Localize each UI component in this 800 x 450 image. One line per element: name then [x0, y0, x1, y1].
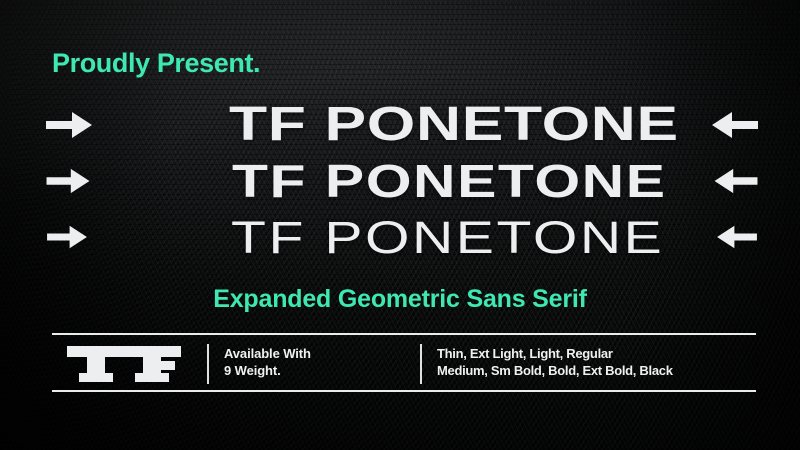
arrow-right-icon	[46, 110, 92, 140]
footer-weights-column: Thin, Ext Light, Light, Regular Medium, …	[437, 345, 673, 379]
footer-availability-column: Available With 9 Weight.	[224, 345, 311, 379]
font-specimen-poster: Proudly Present. TF PONETONE TF PONETONE	[0, 0, 800, 450]
headline-word: TF PONETONE	[231, 215, 664, 260]
tf-monogram-logo	[65, 344, 183, 384]
footer-divider-2	[420, 344, 422, 384]
headline-row-black: TF PONETONE	[46, 100, 758, 150]
arrow-right-icon	[46, 167, 90, 195]
arrow-right-icon	[46, 224, 88, 250]
footer-availability-line2: 9 Weight.	[224, 362, 311, 379]
divider-rule-bottom	[52, 390, 756, 392]
footer-weights-line1: Thin, Ext Light, Light, Regular	[437, 345, 673, 362]
arrow-left-icon	[714, 167, 758, 195]
footer-divider-1	[207, 344, 209, 384]
footer-info-bar: Available With 9 Weight. Thin, Ext Light…	[52, 341, 756, 387]
footer-availability-line1: Available With	[224, 345, 311, 362]
arrow-left-icon	[712, 110, 758, 140]
headline-word: TF PONETONE	[232, 158, 667, 204]
divider-rule-top	[52, 333, 756, 335]
footer-weights-line2: Medium, Sm Bold, Bold, Ext Bold, Black	[437, 362, 673, 379]
headline-row-regular: TF PONETONE	[46, 213, 758, 261]
headline-row-bold: TF PONETONE	[46, 157, 758, 205]
subtitle-text: Expanded Geometric Sans Serif	[0, 287, 800, 312]
eyebrow-text: Proudly Present.	[52, 50, 260, 77]
headline-word: TF PONETONE	[229, 101, 679, 149]
poster-content: Proudly Present. TF PONETONE TF PONETONE	[0, 0, 800, 450]
arrow-left-icon	[716, 224, 758, 250]
